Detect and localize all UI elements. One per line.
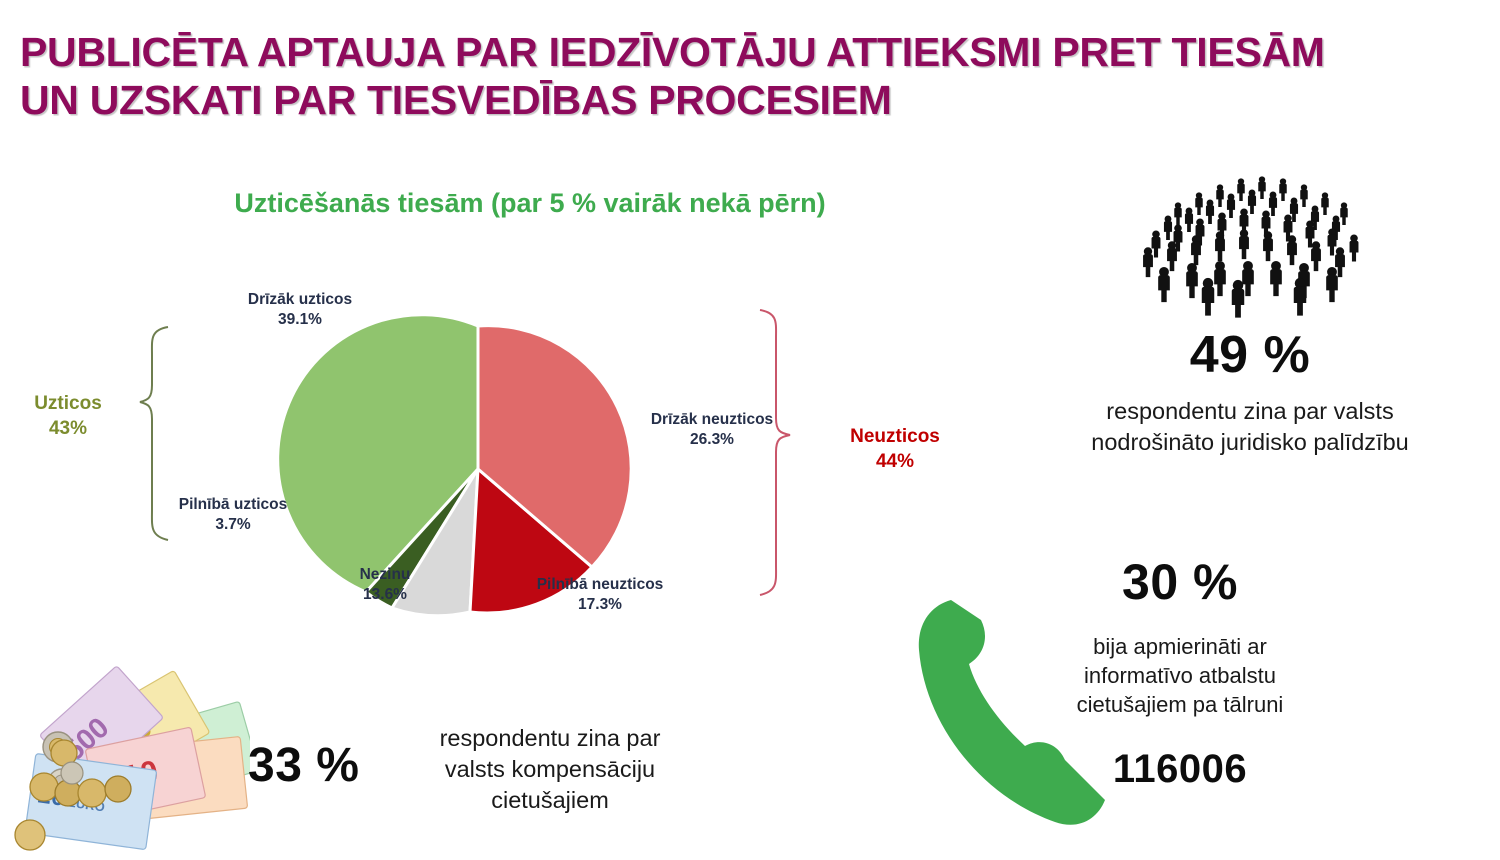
stat-legal-aid-number: 49 % [1085,325,1415,385]
crowd-of-people-icon [1104,142,1394,322]
pie-label-pilniba-uzticos: Pilnībā uzticos 3.7% [138,495,328,536]
stat-hotline-text: bija apmierināti ar informatīvo atbalstu… [1025,632,1335,719]
annotation-neuzticos-name: Neuzticos [850,426,940,447]
stat-hotline-line-1: bija apmierināti ar [1093,634,1267,659]
page-title: PUBLICĒTA APTAUJA PAR IEDZĪVOTĀJU ATTIEK… [20,28,1440,125]
stat-hotline-phone-number: 116006 [1020,747,1340,792]
pie-label-name: Pilnībā uzticos [179,496,288,513]
annotation-uzticos-value: 43% [49,418,87,439]
stat-compensation-line-2: valsts kompensāciju [445,756,655,782]
stat-hotline-line-3: cietušajiem pa tālruni [1077,692,1284,717]
stat-hotline-number: 30 % [1020,553,1340,611]
stat-compensation-text: respondentu zina par valsts kompensāciju… [405,723,695,816]
pie-label-value: 13.6% [305,585,465,605]
pie-label-name: Drīzāk neuzticos [651,411,773,428]
annotation-neuzticos-value: 44% [876,451,914,472]
stat-legal-aid-line-1: respondentu zina par valsts [1106,398,1393,424]
stat-compensation-line-1: respondentu zina par [440,725,661,751]
pie-label-value: 17.3% [500,595,700,615]
stat-compensation-line-3: cietušajiem [491,787,609,813]
pie-label-name: Drīzāk uzticos [248,291,352,308]
chart-title: Uzticēšanās tiesām (par 5 % vairāk nekā … [130,186,930,221]
pie-label-drizak-neuzticos: Drīzāk neuzticos 26.3% [612,410,812,451]
euro-money-banknotes-and-coins-image: 100 200 500 50 10 20 EURO [0,655,250,860]
right-brace [760,310,790,595]
stat-compensation-number: 33 % [248,738,398,793]
page-title-line-2: UN UZSKATI PAR TIESVEDĪBAS PROCESIEM [20,76,1440,124]
page-title-line-1: PUBLICĒTA APTAUJA PAR IEDZĪVOTĀJU ATTIEK… [20,28,1440,76]
stat-hotline-line-2: informatīvo atbalstu [1084,663,1276,688]
annotation-neuzticos: Neuzticos 44% [820,425,970,474]
stat-legal-aid-line-2: nodrošināto juridisko palīdzību [1091,429,1408,455]
pie-label-name: Pilnībā neuzticos [537,576,664,593]
annotation-uzticos: Uzticos 43% [8,392,128,441]
annotation-uzticos-name: Uzticos [34,393,102,414]
pie-label-pilniba-neuzticos: Pilnībā neuzticos 17.3% [500,575,700,616]
pie-label-value: 26.3% [612,430,812,450]
pie-label-value: 3.7% [138,515,328,535]
pie-label-nezinu: Nezinu 13.6% [305,565,465,606]
pie-label-value: 39.1% [200,310,400,330]
stat-legal-aid-text: respondentu zina par valsts nodrošināto … [1040,396,1460,458]
pie-label-drizak-uzticos: Drīzāk uzticos 39.1% [200,290,400,331]
pie-label-name: Nezinu [360,566,411,583]
